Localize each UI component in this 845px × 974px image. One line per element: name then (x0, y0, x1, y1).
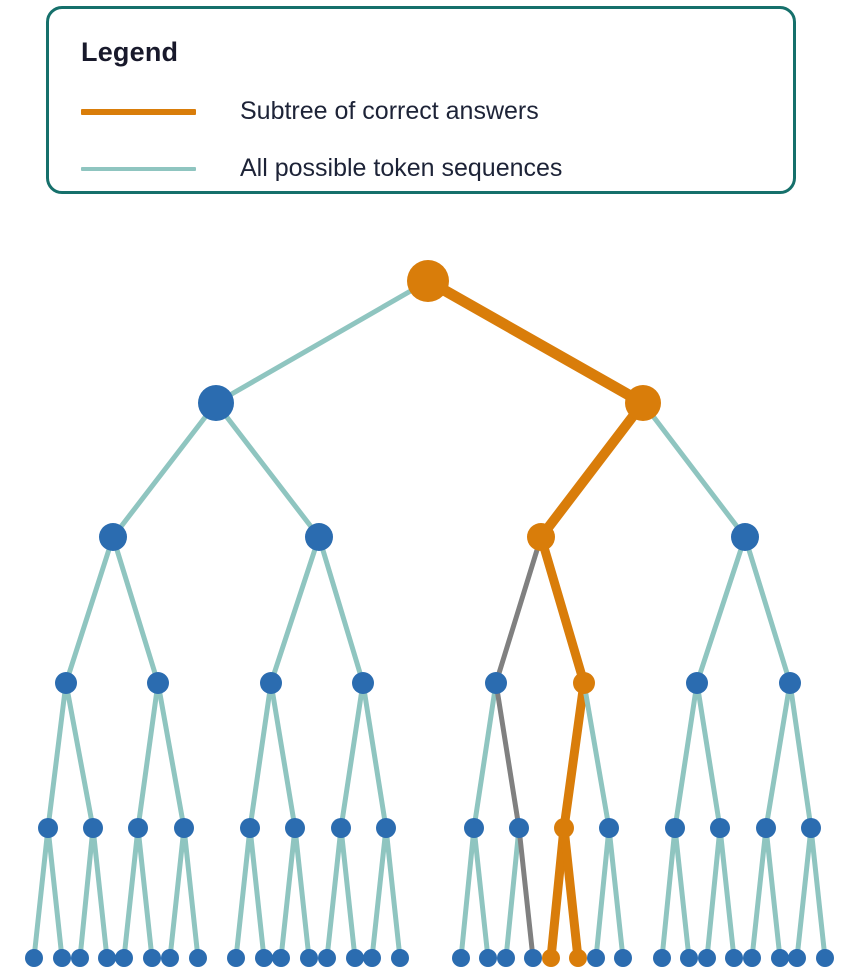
tree-edge (170, 828, 184, 958)
tree-edge (790, 683, 811, 828)
tree-edge (428, 281, 643, 403)
tree-edge (66, 537, 113, 683)
tree-node[interactable] (147, 672, 169, 694)
tree-edge (372, 828, 386, 958)
tree-edge (250, 683, 271, 828)
tree-node[interactable] (318, 949, 336, 967)
legend-panel: Legend Subtree of correct answers All po… (46, 6, 796, 194)
tree-node[interactable] (346, 949, 364, 967)
tree-edge (697, 537, 745, 683)
tree-node[interactable] (527, 523, 555, 551)
tree-node[interactable] (686, 672, 708, 694)
tree-node[interactable] (161, 949, 179, 967)
tree-edge (541, 403, 643, 537)
tree-edge (236, 828, 250, 958)
tree-edge (766, 683, 790, 828)
tree-node[interactable] (376, 818, 396, 838)
tree-node[interactable] (71, 949, 89, 967)
tree-node[interactable] (485, 672, 507, 694)
tree-node[interactable] (189, 949, 207, 967)
tree-edge (564, 828, 578, 958)
tree-node[interactable] (143, 949, 161, 967)
tree-node[interactable] (83, 818, 103, 838)
tree-edge (250, 828, 264, 958)
tree-node[interactable] (260, 672, 282, 694)
diagram-canvas: Legend Subtree of correct answers All po… (0, 0, 845, 974)
tree-node[interactable] (174, 818, 194, 838)
tree-edge (474, 828, 488, 958)
tree-edge (80, 828, 93, 958)
tree-node[interactable] (743, 949, 761, 967)
tree-edge (271, 537, 319, 683)
tree-node[interactable] (305, 523, 333, 551)
tree-edge (113, 537, 158, 683)
tree-node[interactable] (53, 949, 71, 967)
tree-edge (138, 683, 158, 828)
tree-node[interactable] (725, 949, 743, 967)
tree-node[interactable] (524, 949, 542, 967)
tree-node[interactable] (614, 949, 632, 967)
tree-edge (113, 403, 216, 537)
tree-edge (564, 683, 584, 828)
tree-edge (66, 683, 93, 828)
tree-node[interactable] (569, 949, 587, 967)
tree-edge (461, 828, 474, 958)
tree-node[interactable] (98, 949, 116, 967)
tree-edge (720, 828, 734, 958)
tree-edges-layer (34, 281, 825, 958)
tree-edge (797, 828, 811, 958)
tree-node[interactable] (255, 949, 273, 967)
tree-edge (34, 828, 48, 958)
tree-node[interactable] (554, 818, 574, 838)
tree-node[interactable] (801, 818, 821, 838)
legend-item-correct-subtree[interactable]: Subtree of correct answers (81, 97, 539, 126)
tree-edge (584, 683, 609, 828)
tree-node[interactable] (272, 949, 290, 967)
tree-node[interactable] (573, 672, 595, 694)
tree-edge (519, 828, 533, 958)
tree-node[interactable] (452, 949, 470, 967)
tree-edge (271, 683, 295, 828)
tree-node[interactable] (25, 949, 43, 967)
tree-node[interactable] (407, 260, 449, 302)
tree-node[interactable] (756, 818, 776, 838)
tree-node[interactable] (352, 672, 374, 694)
tree-node[interactable] (731, 523, 759, 551)
tree-node[interactable] (665, 818, 685, 838)
tree-node[interactable] (55, 672, 77, 694)
tree-node[interactable] (115, 949, 133, 967)
tree-node[interactable] (285, 818, 305, 838)
legend-item-all-sequences[interactable]: All possible token sequences (81, 154, 562, 183)
tree-edge (124, 828, 138, 958)
tree-edge (48, 828, 62, 958)
tree-edge (541, 537, 584, 683)
tree-node[interactable] (698, 949, 716, 967)
tree-edge (643, 403, 745, 537)
tree-edge (295, 828, 309, 958)
tree-edge (496, 683, 519, 828)
legend-label-all-sequences: All possible token sequences (240, 154, 562, 183)
tree-node[interactable] (128, 818, 148, 838)
tree-edge (745, 537, 790, 683)
tree-node[interactable] (680, 949, 698, 967)
tree-node[interactable] (479, 949, 497, 967)
legend-label-correct-subtree: Subtree of correct answers (240, 97, 539, 126)
tree-edge (811, 828, 825, 958)
tree-edge (609, 828, 623, 958)
tree-node[interactable] (653, 949, 671, 967)
tree-edge (281, 828, 295, 958)
tree-edge (93, 828, 107, 958)
tree-edge (752, 828, 766, 958)
tree-edge (363, 683, 386, 828)
tree-edge (327, 828, 341, 958)
tree-node[interactable] (240, 818, 260, 838)
tree-edge (496, 537, 541, 683)
legend-title: Legend (81, 37, 178, 68)
tree-edge (675, 683, 697, 828)
tree-edge (707, 828, 720, 958)
tree-edge (697, 683, 720, 828)
tree-edge (138, 828, 152, 958)
tree-node[interactable] (363, 949, 381, 967)
tree-node[interactable] (464, 818, 484, 838)
tree-nodes-layer (25, 260, 834, 967)
tree-node[interactable] (227, 949, 245, 967)
tree-node[interactable] (599, 818, 619, 838)
tree-node[interactable] (816, 949, 834, 967)
tree-edge (662, 828, 675, 958)
tree-edge (48, 683, 66, 828)
tree-node[interactable] (99, 523, 127, 551)
tree-edge (319, 537, 363, 683)
tree-edge (766, 828, 780, 958)
tree-edge (341, 828, 355, 958)
tree-node[interactable] (625, 385, 661, 421)
tree-node[interactable] (587, 949, 605, 967)
legend-swatch-teal-line-icon (81, 167, 196, 171)
tree-edge (341, 683, 363, 828)
tree-edge (474, 683, 496, 828)
tree-edge (184, 828, 198, 958)
tree-node[interactable] (788, 949, 806, 967)
tree-edge (596, 828, 609, 958)
tree-edge (506, 828, 519, 958)
tree-edge (216, 403, 319, 537)
tree-node[interactable] (542, 949, 560, 967)
tree-node[interactable] (391, 949, 409, 967)
tree-node[interactable] (771, 949, 789, 967)
tree-edge (216, 281, 428, 403)
tree-node[interactable] (509, 818, 529, 838)
tree-node[interactable] (331, 818, 351, 838)
tree-edge (386, 828, 400, 958)
tree-node[interactable] (497, 949, 515, 967)
tree-node[interactable] (779, 672, 801, 694)
tree-node[interactable] (198, 385, 234, 421)
tree-node[interactable] (710, 818, 730, 838)
legend-swatch-orange-line-icon (81, 109, 196, 115)
tree-edge (158, 683, 184, 828)
tree-node[interactable] (300, 949, 318, 967)
tree-node[interactable] (38, 818, 58, 838)
tree-edge (675, 828, 689, 958)
